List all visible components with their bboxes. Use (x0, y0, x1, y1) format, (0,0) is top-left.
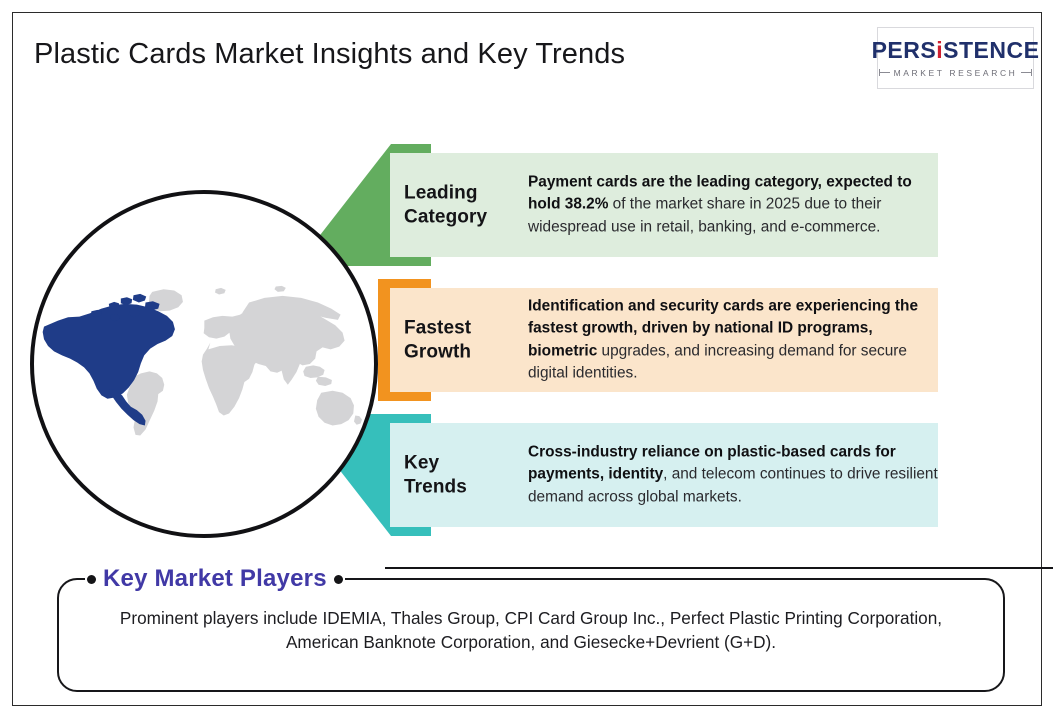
players-left-dot-icon (87, 575, 96, 584)
row-trends-body: Cross-industry reliance on plastic-based… (528, 442, 938, 509)
row-leading-label-line1: Leading (404, 181, 524, 205)
logo-subtitle: MARKET RESEARCH (894, 68, 1018, 78)
row-leading-label-line2: Category (404, 205, 524, 229)
key-market-players-panel: Key Market Players Prominent players inc… (57, 578, 1005, 692)
globe-world-map (30, 190, 378, 538)
row-trends-label: Key Trends (404, 451, 524, 498)
world-map-icon (42, 240, 376, 472)
players-title: Key Market Players (96, 565, 334, 593)
row-fastest-label: Fastest Growth (404, 316, 524, 363)
logo-wordmark: PERSiSTENCE (872, 39, 1040, 62)
logo-word-post: STENCE (943, 37, 1039, 63)
page-title: Plastic Cards Market Insights and Key Tr… (34, 38, 625, 71)
players-title-rule (385, 567, 1053, 569)
row-leading-label: Leading Category (404, 181, 524, 228)
logo-word-pre: PERS (872, 37, 937, 63)
row-leading-body: Payment cards are the leading category, … (528, 172, 938, 239)
row-fastest-label-line1: Fastest (404, 316, 524, 340)
players-description: Prominent players include IDEMIA, Thales… (93, 606, 969, 655)
logo-subtitle-row: MARKET RESEARCH (879, 68, 1033, 78)
persistence-market-research-logo: PERSiSTENCE MARKET RESEARCH (877, 27, 1034, 89)
row-fastest-label-line2: Growth (404, 340, 524, 364)
infographic-root: Plastic Cards Market Insights and Key Tr… (0, 0, 1056, 720)
row-fastest-body: Identification and security cards are ex… (528, 295, 938, 384)
logo-right-tick-icon (1021, 72, 1032, 74)
players-right-dot-icon (334, 575, 343, 584)
row-trends-label-line1: Key (404, 451, 524, 475)
players-title-wrap: Key Market Players (85, 563, 345, 595)
row-trends-label-line2: Trends (404, 475, 524, 499)
logo-left-tick-icon (879, 72, 890, 74)
